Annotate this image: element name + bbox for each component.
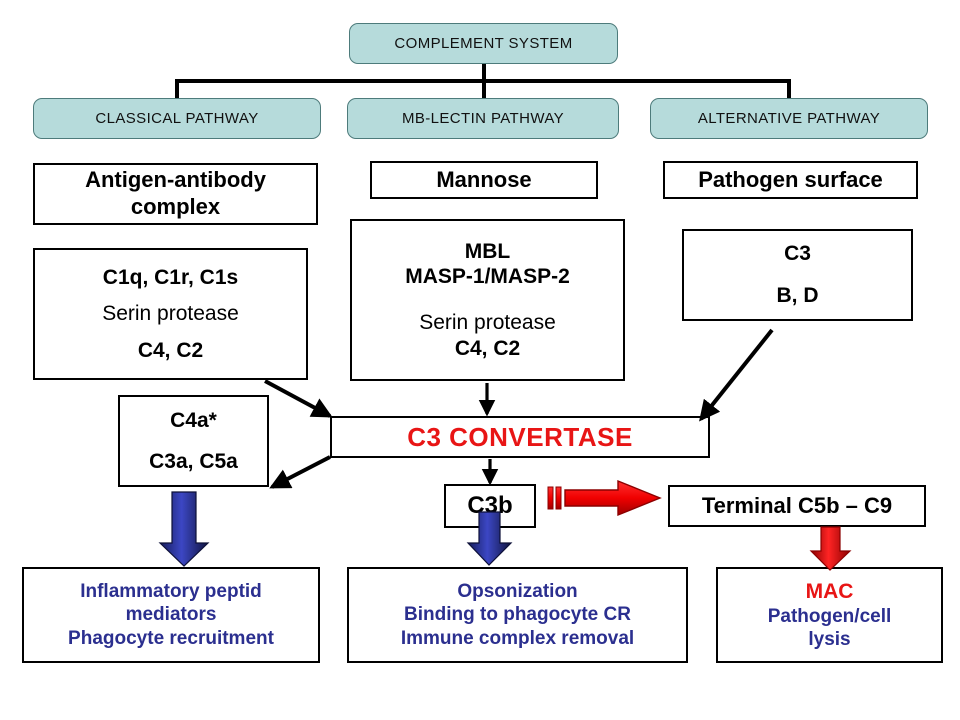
- outcome-box-opsonization: Opsonization Binding to phagocyte CR Imm…: [347, 567, 688, 663]
- outcome-opsonization-line-1: Opsonization: [457, 580, 577, 603]
- lectin-component-line-3: Serin protease: [419, 310, 556, 336]
- outcome-inflammation-line-3: Phagocyte recruitment: [68, 627, 274, 650]
- component-box-alternative: C3 B, D: [682, 229, 913, 321]
- classical-component-line-3: C4, C2: [138, 338, 203, 364]
- arrow-alternative-to-convertase: [701, 330, 772, 419]
- c3b-label: C3b: [467, 492, 512, 520]
- outcome-mac-line-2: Pathogen/cell: [768, 605, 892, 628]
- trigger-classical-line-2: complex: [131, 194, 220, 221]
- connector-drop-alternative: [787, 79, 791, 100]
- arrow-convertase-to-anaphylatoxins: [272, 457, 330, 487]
- trigger-lectin-line-1: Mannose: [436, 167, 531, 194]
- blue-block-arrow-to-inflammation: [160, 492, 208, 566]
- outcome-inflammation-line-1: Inflammatory peptid: [80, 580, 262, 603]
- lectin-component-line-4: C4, C2: [455, 336, 520, 362]
- lectin-component-line-1: MBL: [465, 239, 511, 265]
- pathway-label-classical: CLASSICAL PATHWAY: [95, 110, 258, 127]
- anaphylatoxin-line-2: C3a, C5a: [149, 449, 238, 475]
- c3b-box: C3b: [444, 484, 536, 528]
- c3-convertase-box: C3 CONVERTASE: [330, 416, 710, 458]
- pathway-box-classical: CLASSICAL PATHWAY: [33, 98, 321, 139]
- outcome-inflammation-line-2: mediators: [126, 603, 217, 626]
- component-box-classical: C1q, C1r, C1s Serin protease C4, C2: [33, 248, 308, 380]
- trigger-alternative-line-1: Pathogen surface: [698, 167, 883, 194]
- anaphylatoxin-box: C4a* C3a, C5a: [118, 395, 269, 487]
- pathway-box-mb-lectin: MB-LECTIN PATHWAY: [347, 98, 619, 139]
- classical-component-line-1: C1q, C1r, C1s: [103, 265, 238, 291]
- pathway-label-alternative: ALTERNATIVE PATHWAY: [698, 110, 880, 127]
- outcome-mac-line-1: MAC: [806, 579, 854, 605]
- connector-drop-classical: [175, 79, 179, 100]
- alternative-component-line-1: C3: [784, 241, 811, 267]
- pathway-box-alternative: ALTERNATIVE PATHWAY: [650, 98, 928, 139]
- trigger-classical-line-1: Antigen-antibody: [85, 167, 266, 194]
- outcome-mac-line-3: lysis: [808, 628, 850, 651]
- lectin-component-line-2: MASP-1/MASP-2: [405, 264, 570, 290]
- connector-drop-lectin: [482, 79, 486, 100]
- terminal-label: Terminal C5b – C9: [702, 493, 892, 519]
- red-block-arrow-c3b-to-terminal: [548, 481, 660, 515]
- diagram-canvas: COMPLEMENT SYSTEM CLASSICAL PATHWAY MB-L…: [0, 0, 960, 720]
- root-box-complement-system: COMPLEMENT SYSTEM: [349, 23, 618, 64]
- outcome-opsonization-line-2: Binding to phagocyte CR: [404, 603, 631, 626]
- root-label: COMPLEMENT SYSTEM: [394, 35, 572, 52]
- outcome-opsonization-line-3: Immune complex removal: [401, 627, 634, 650]
- alternative-component-line-2: B, D: [777, 283, 819, 309]
- terminal-complex-box: Terminal C5b – C9: [668, 485, 926, 527]
- trigger-box-classical: Antigen-antibody complex: [33, 163, 318, 225]
- outcome-box-mac: MAC Pathogen/cell lysis: [716, 567, 943, 663]
- arrow-classical-to-convertase: [265, 381, 330, 416]
- outcome-box-inflammation: Inflammatory peptid mediators Phagocyte …: [22, 567, 320, 663]
- c3-convertase-label: C3 CONVERTASE: [407, 422, 633, 453]
- red-block-arrow-to-mac: [811, 527, 850, 570]
- component-box-lectin: MBL MASP-1/MASP-2 Serin protease C4, C2: [350, 219, 625, 381]
- pathway-label-mb-lectin: MB-LECTIN PATHWAY: [402, 110, 564, 127]
- classical-component-line-2: Serin protease: [102, 301, 239, 327]
- trigger-box-alternative: Pathogen surface: [663, 161, 918, 199]
- trigger-box-lectin: Mannose: [370, 161, 598, 199]
- anaphylatoxin-line-1: C4a*: [170, 408, 217, 434]
